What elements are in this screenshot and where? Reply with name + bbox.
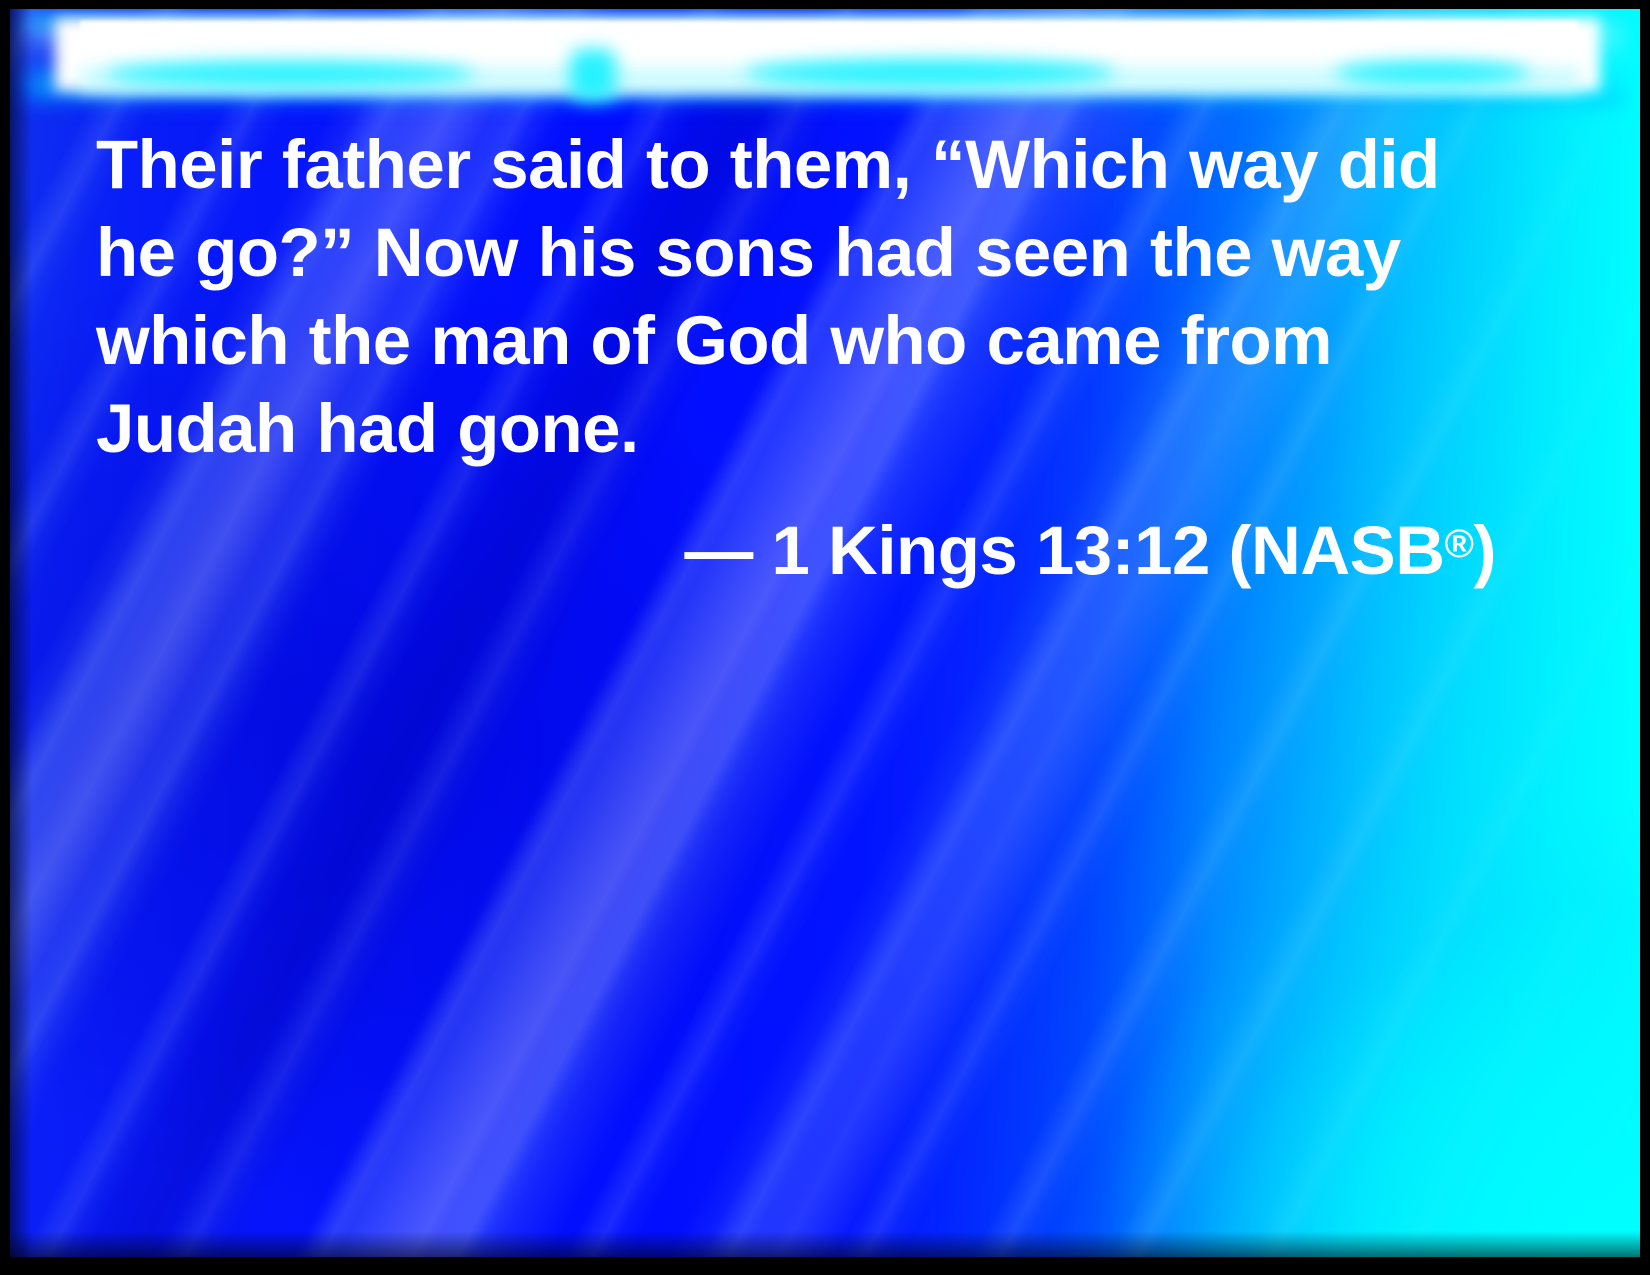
top-band-cyan-blob-right: [1335, 61, 1530, 85]
background-bottom-shade: [10, 1231, 1640, 1257]
verse-content: Their father said to them, “Which way di…: [96, 121, 1514, 595]
verse-slide: Their father said to them, “Which way di…: [0, 0, 1650, 1275]
background-left-shade: [10, 9, 32, 1257]
verse-body-text: Their father said to them, “Which way di…: [96, 121, 1514, 473]
registered-trademark-icon: ®: [1445, 522, 1474, 566]
verse-reference-suffix: ): [1474, 512, 1496, 589]
background-cyan-pool: [955, 708, 1640, 1257]
verse-reference: — 1 Kings 13:12 (NASB®): [96, 473, 1514, 595]
slide-stage: Their father said to them, “Which way di…: [10, 9, 1640, 1257]
verse-reference-prefix: — 1 Kings 13:12 (NASB: [684, 512, 1444, 589]
top-glow-band: [10, 9, 1640, 109]
top-band-cyan-notch: [570, 49, 616, 101]
top-band-cyan-blob-center: [745, 59, 1115, 87]
top-band-cyan-blob-left: [105, 61, 475, 87]
